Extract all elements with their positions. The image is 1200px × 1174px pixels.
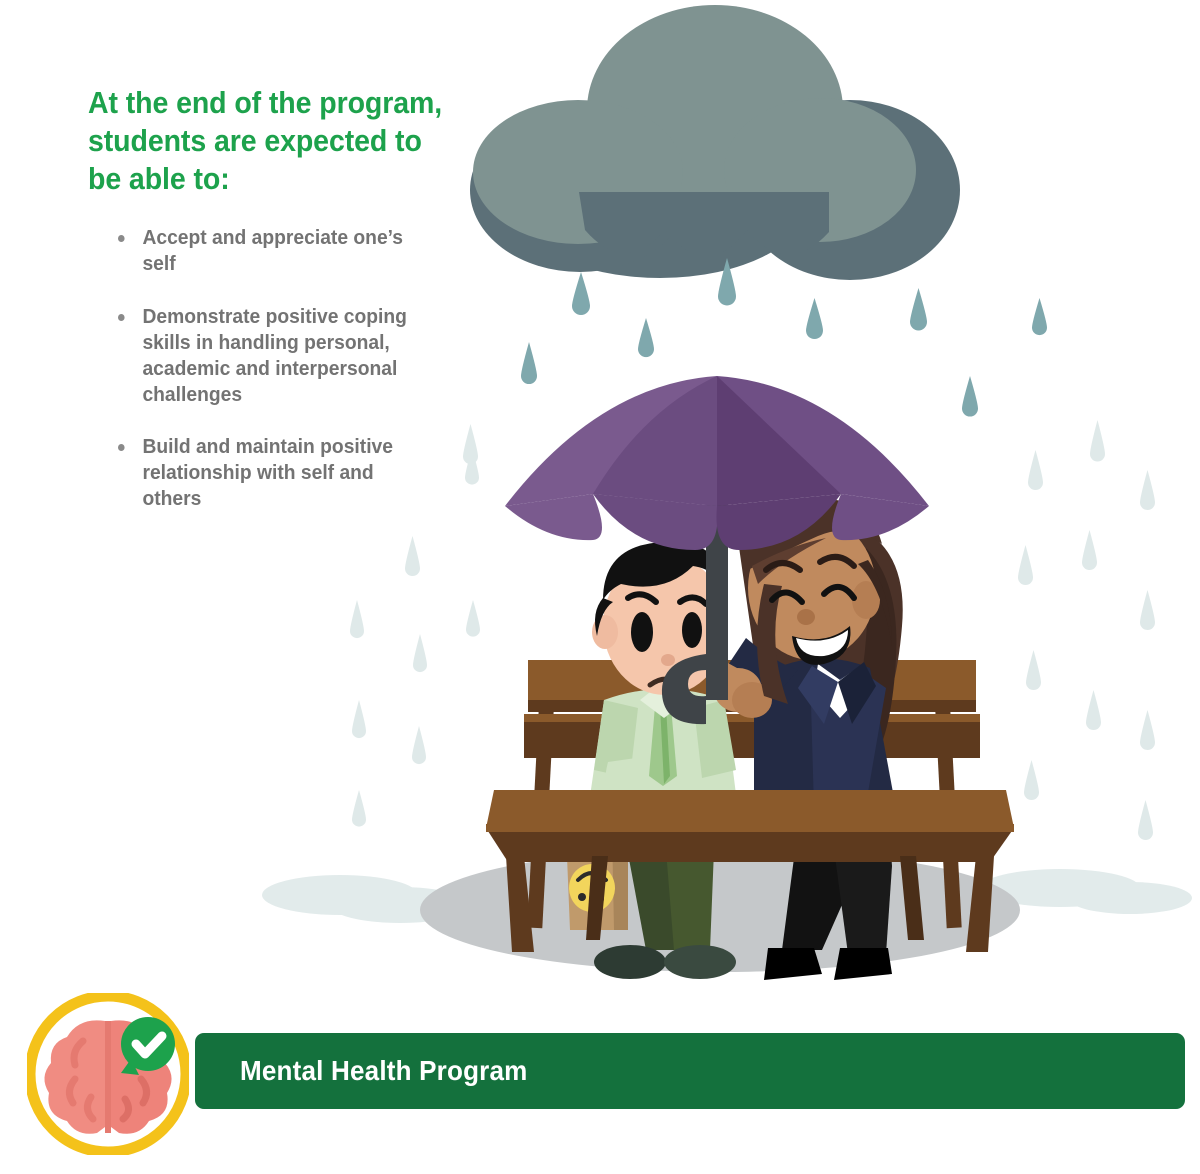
mental-health-program-logo [27,993,189,1155]
raindrop-near [572,272,590,315]
raindrop-near [521,342,537,384]
raindrop-far [1028,450,1043,490]
objective-item: Demonstrate positive coping skills in ha… [118,304,424,408]
program-banner: Mental Health Program [195,1033,1185,1109]
raindrop-far [1140,590,1155,630]
raindrop-near [962,376,978,417]
raindrop-far [352,700,366,738]
raindrop-far [1138,800,1153,840]
raindrop-near [1032,298,1047,335]
slide-canvas: At the end of the program, students are … [0,0,1200,1174]
page-title: At the end of the program, students are … [88,84,456,197]
raindrop-far [405,536,420,576]
raindrop-far [1026,650,1041,690]
objective-item: Build and maintain positive relationship… [118,434,424,512]
raindrop-far [1024,760,1039,800]
raindrop-far [1090,420,1105,462]
rain-cloud-icon [470,5,960,280]
raindrop-far [1086,690,1101,730]
raindrop-far [1018,545,1033,585]
raindrop-near [910,288,927,331]
raindrop-near [806,298,823,339]
raindrop-far [466,600,480,637]
raindrop-far [1140,710,1155,750]
objective-item: Accept and appreciate one’s self [118,225,424,277]
objectives-list: Accept and appreciate one’s selfDemonstr… [88,225,488,511]
raindrop-far [412,726,426,764]
objectives-panel: At the end of the program, students are … [88,84,488,512]
raindrop-far [350,600,364,638]
raindrop-far [1140,470,1155,510]
raindrop-near [638,318,654,357]
raindrop-far [352,790,366,827]
raindrop-far [1082,530,1097,570]
raindrop-far [413,634,427,672]
puddle-right-2 [1068,882,1192,914]
program-banner-title: Mental Health Program [240,1055,528,1087]
